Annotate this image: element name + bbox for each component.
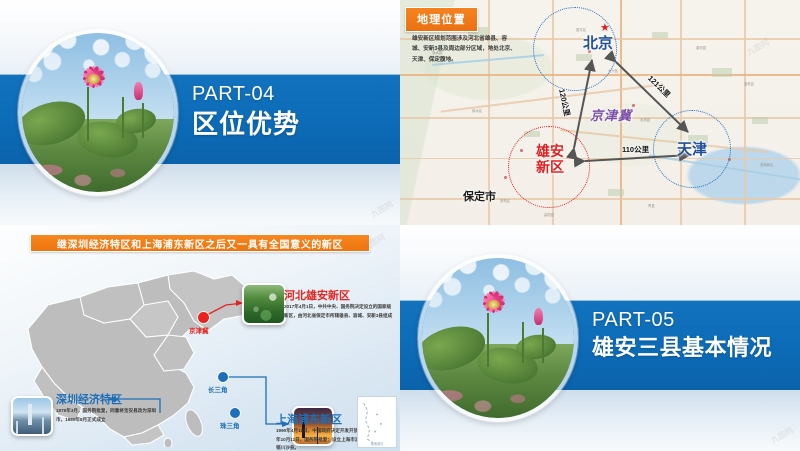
city-label-beijing: 北京 [583,36,613,53]
region-label-jingjinji: 京津冀 [590,105,632,124]
lotus-pond-photo [22,33,174,192]
slide-national-new-areas[interactable]: 继深圳经济特区和上海浦东新区之后又一具有全国意义的新区 [0,225,400,451]
south-china-sea-inset: 南海诸岛 [357,396,397,448]
city-label-tianjin: 天津 [677,142,707,159]
lotus-photo-circle [18,29,178,196]
slide-title-block: PART-05 雄安三县基本情况 [592,309,772,362]
location-description: 雄安新区规划范围涉及河北省雄县、容城、安新3县及周边部分区域，地处北京、天津、保… [412,34,518,65]
slide-thumbnail-grid: PART-04 区位优势 九图网 [0,0,800,451]
city-label-baoding: 保定市 [463,188,496,204]
slide-title-block: PART-04 区位优势 [192,83,300,141]
callout-body-xiongan: 2017年4月1日，中共中央、国务院决定设立的国家级新区，由河北省保定市所辖雄县… [284,303,394,320]
callout-body-shenzhen: 1979年3月，国务院批复，同意将宝安县改为深圳市，1980年8月正式成立 [56,407,160,424]
svg-text:南海诸岛: 南海诸岛 [371,441,384,446]
region-label-jingjinji: 京津冀 [189,325,209,335]
part-label: PART-05 [592,309,772,331]
section-ribbon-title: 地理位置 [405,7,478,32]
slide-geographic-location[interactable]: 涞水县 徐水区 清苑区 昌平区 大兴区 永清县 香河县 宝坻区 滨海新区 青县 … [400,0,800,225]
region-label-pearl-delta: 珠三角 [220,420,240,430]
lotus-flower-icon [465,281,523,329]
lotus-photo-circle [418,254,578,421]
part-label: PART-04 [192,83,300,105]
slide-part-05[interactable]: PART-05 雄安三县基本情况 九图网 [400,225,800,451]
lotus-pond-photo [422,258,574,417]
callout-title-shanghai: 上海浦东新区 [276,411,342,427]
callout-title-shenzhen: 深圳经济特区 [56,391,122,407]
page-title: 区位优势 [192,108,300,141]
lotus-bud-icon [134,82,142,99]
page-title: 雄安三县基本情况 [592,334,772,362]
lotus-stem [142,103,144,138]
pin-pearl-delta[interactable] [230,408,240,418]
pin-jingjinji[interactable] [198,312,209,323]
thumbnail-xiongan[interactable] [242,283,286,325]
lotus-stem [542,328,544,363]
capital-star-icon: ★ [600,23,610,34]
callout-title-xiongan: 河北雄安新区 [284,287,350,303]
lotus-stem [522,322,524,363]
region-label-yangtze-delta: 长三角 [208,384,228,394]
slide-part-04[interactable]: PART-04 区位优势 九图网 [0,0,400,225]
city-label-xiongan: 雄安新区 [536,143,564,175]
distance-label-xiongan-tianjin: 110公里 [622,144,649,155]
pin-yangtze-delta[interactable] [218,372,228,382]
lotus-stem [122,97,124,138]
lotus-bud-icon [534,308,542,326]
thumbnail-shenzhen[interactable] [11,396,53,436]
lotus-flower-icon [65,55,123,103]
